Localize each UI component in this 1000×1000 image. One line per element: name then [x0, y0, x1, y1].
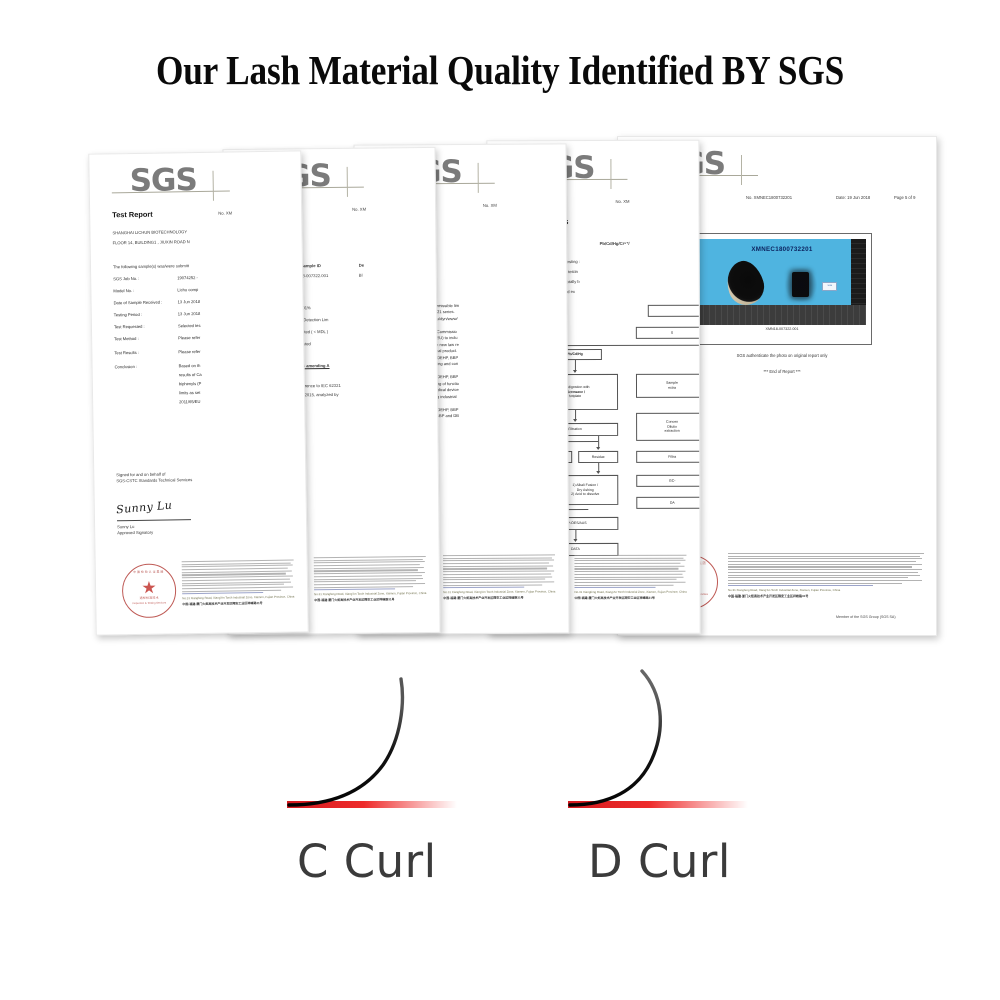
flow-arrow-3: [598, 436, 599, 449]
lash-sample-blob: [721, 257, 769, 310]
authenticate-line: SGS authenticate the photo on original r…: [692, 353, 872, 359]
legal-footer-5: No.31 Xiangfeng Road, Xiang'An Torch Ind…: [728, 553, 924, 598]
c-curl-diagram: [265, 655, 475, 830]
lash-sample-tuft: [792, 272, 809, 297]
field-label-test-method: Test Method :: [114, 336, 139, 342]
company-line-1: SHANGHAI LICHUN BIOTECHNOLOGY: [112, 229, 187, 236]
flow-connector-h: [548, 345, 701, 346]
field-label-model-no: Model No. :: [113, 288, 134, 294]
sample-photo-caption: XMN18-007322.001: [698, 325, 866, 332]
member-of-sgs-group: Member of the SGS Group (SGS SA): [836, 615, 896, 620]
field-label-job-no: SGS Job No. :: [113, 276, 139, 282]
report-no-2: No. XM: [352, 207, 366, 213]
legal-footer-3: No.31 Xiangfeng Road, Xiang'An Torch Ind…: [443, 554, 555, 600]
field-value-test-method: Please refer: [178, 335, 200, 341]
seal-cn-text: 通标标准技术: [123, 596, 175, 601]
sample-photo-frame: XMNEC1800732201 SGS XMN18-007322.001: [692, 233, 872, 345]
flow-box-right-filtration: Filtra: [636, 451, 700, 463]
flow-box-top-b: S: [636, 327, 701, 339]
ruler-horizontal: [698, 305, 866, 325]
footer-address-3: No.31 Xiangfeng Road, Xiang'An Torch Ind…: [443, 590, 555, 595]
official-seal-1: 中国检验认证集团 ★ 通标标准技术 Inspection & Testing S…: [122, 563, 177, 618]
company-line-2: FLOOR 14, BUILDING1 , JIUXIN ROAD N: [113, 239, 190, 246]
field-value-test-requested: Selected tes: [178, 323, 201, 329]
flow-box-right-concentration: Concen Dilutio extraction: [636, 413, 701, 441]
field-label-test-results: Test Results :: [114, 350, 139, 356]
field-label-testing-period: Testing Period :: [114, 312, 142, 318]
legal-footer-2: No.31 Xiangfeng Road, Xiang'An Torch Ind…: [314, 556, 426, 602]
lash-sample-tag: SGS: [822, 282, 837, 291]
c-curl-group: C Curl: [265, 645, 475, 945]
intro-line: The following sample(s) was/were submitt: [113, 263, 189, 270]
flow-box-top-a: [648, 305, 701, 317]
signature-mark: Sunny Lu: [116, 498, 173, 519]
footer-cn-4: 中国·福建·厦门火炬高技术产业开发区翔安工业区祥峰路31号: [575, 595, 687, 600]
footer-address-5: No.31 Xiangfeng Road, Xiang'An Torch Ind…: [728, 588, 924, 592]
curl-comparison-section: C Curl D Curl: [0, 645, 1000, 955]
report-no-1: No. XM: [218, 210, 232, 216]
d-curl-group: D Curl: [560, 645, 770, 945]
flow-text: extra: [668, 386, 676, 391]
field-label-test-requested: Test Requested :: [114, 324, 145, 330]
flow-text: extraction: [665, 429, 680, 434]
report-title-1: Test Report: [112, 210, 153, 221]
page-title: Our Lash Material Quality Identified BY …: [70, 46, 930, 94]
footer-cn-1: 中国·福建·厦门火炬高技术产业开发区翔安工业区祥峰路31号: [182, 600, 294, 606]
conclusion-extra-2: limits as set: [179, 390, 200, 396]
flow-box-right-gc: GC-: [636, 475, 700, 487]
signature-rule: [117, 519, 191, 521]
footer-address-4: No.31 Xiangfeng Road, Xiang'An Torch Ind…: [575, 590, 687, 594]
field-value-conclusion: Based on th: [179, 363, 201, 369]
footer-cn-3: 中国·福建·厦门火炬高技术产业开发区翔安工业区祥峰路31号: [443, 595, 555, 600]
flow-box-residue: Residue: [578, 451, 618, 463]
flow-text: hotplate: [569, 394, 581, 399]
report-no-4: No. XM: [616, 199, 630, 205]
specimen-header-desc: De: [359, 263, 364, 269]
report-date-5: Date: 19 Jun 2018: [836, 195, 870, 201]
flow-box-right-sample: Sample extra: [636, 374, 701, 398]
report-no-3: No. XM: [483, 203, 497, 209]
field-value-model-no: Lichu comp: [177, 287, 198, 293]
seal-arc-text: 中国检验认证集团: [123, 570, 175, 575]
certificate-page-1[interactable]: SGS Test Report No. XM SHANGHAI LICHUN B…: [88, 150, 309, 635]
seal-en-text: Inspection & Testing Services: [123, 602, 175, 607]
field-value-test-results: Please refer: [178, 349, 200, 355]
sample-photo-image: XMNEC1800732201 SGS: [698, 239, 866, 325]
footer-cn-5: 中国·福建·厦门火炬高技术产业开发区翔安工业区祥峰路31号: [728, 594, 924, 598]
field-value-testing-period: 13 Jun 2018: [178, 311, 201, 317]
d-curl-diagram: [560, 655, 770, 830]
field-label-date-received: Date of Sample Received :: [114, 300, 163, 307]
d-curl-label: D Curl: [588, 835, 731, 888]
sample-photo-code: XMNEC1800732201: [698, 246, 866, 255]
seal-star-icon: ★: [141, 579, 157, 596]
sgs-logo-1: SGS: [111, 164, 261, 197]
signed-for-line-2: SGS-CSTC Standards Technical Services: [116, 477, 192, 484]
footer-cn-2: 中国·福建·厦门火炬高技术产业开发区翔安工业区祥峰路31号: [314, 597, 426, 603]
flow-arrow-6: [575, 530, 576, 541]
flow-arrow-root: [575, 360, 576, 372]
flow-arrow-1: [575, 410, 576, 421]
field-value-job-no: 19074252 -: [177, 275, 198, 281]
legal-footer-1: No.31 Xiangfeng Road, Xiang'An Torch Ind…: [182, 560, 295, 607]
conclusion-extra-1: biphenyls (P: [179, 381, 202, 387]
flow-arrow-4: [598, 463, 599, 473]
flow-heading: Pb/Cd/Hg/Cr⁶⁺/: [600, 241, 630, 247]
report-no-5: No. XMNEC1800732201: [746, 195, 792, 201]
c-curl-label: C Curl: [297, 835, 437, 888]
field-value-date-received: 13 Jun 2018: [178, 299, 201, 305]
field-label-conclusion: Conclusion :: [115, 364, 138, 370]
legal-footer-4: No.31 Xiangfeng Road, Xiang'An Torch Ind…: [574, 555, 686, 600]
flow-text: 2) Acid to dissolve: [571, 492, 599, 497]
end-of-report-line: *** End of Report ***: [692, 369, 872, 375]
flow-box-right-data: DA: [636, 497, 700, 509]
report-page-5: Page 5 of 9: [894, 195, 915, 201]
conclusion-extra-0: results of Ca: [179, 372, 202, 378]
certificate-stack: SGS Test Report No. XM SHANGHAI LICHUN B…: [0, 130, 1000, 640]
signatory-title: Approved Signatory: [117, 529, 191, 536]
specimen-value-desc: Bl: [359, 273, 363, 279]
conclusion-extra-3: 2011/65/EU: [179, 399, 200, 405]
